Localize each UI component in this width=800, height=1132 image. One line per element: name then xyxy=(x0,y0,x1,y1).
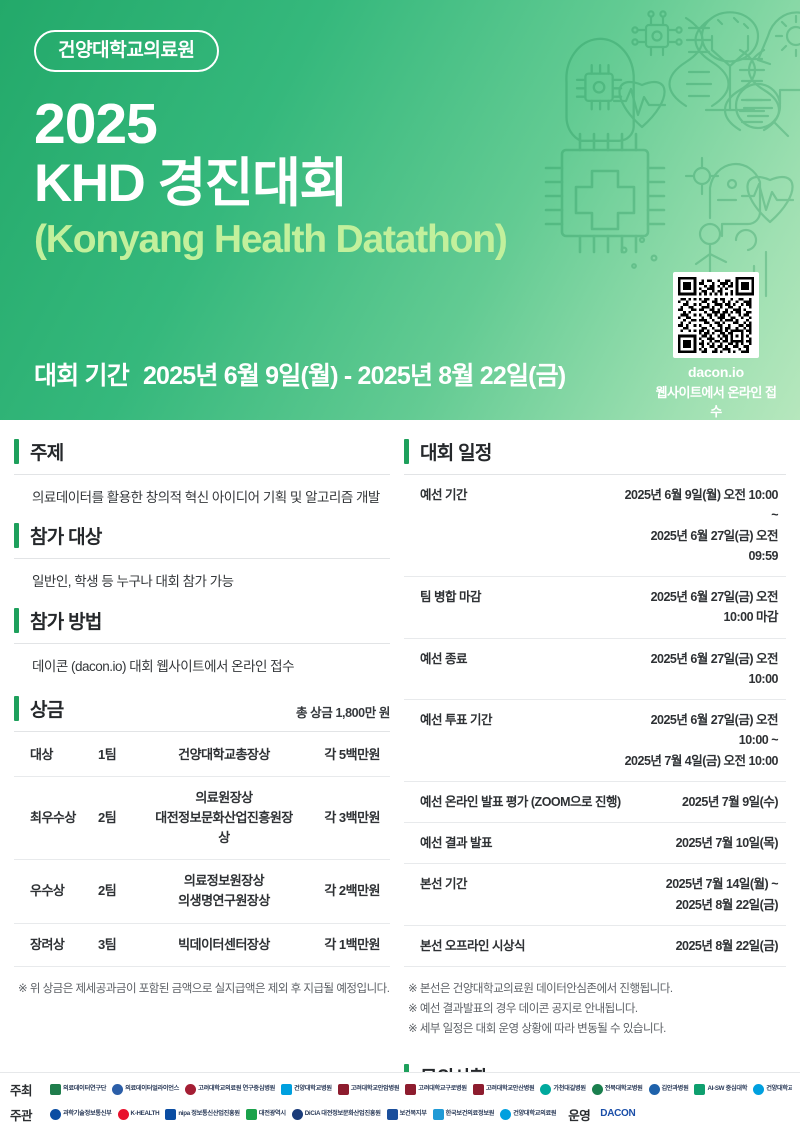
sponsor-logo: DiCiA 대전정보문화산업진흥원 xyxy=(292,1109,381,1120)
sponsor-logo-mark-icon xyxy=(387,1109,398,1120)
table-row: 예선 결과 발표2025년 7월 10일(목) xyxy=(404,823,786,864)
sponsor-logo-mark-icon xyxy=(50,1109,61,1120)
schedule-label: 본선 오프라인 시상식 xyxy=(404,925,621,966)
section-method: 참가 방법 데이콘 (dacon.io) 대회 웹사이트에서 온라인 접수 xyxy=(14,607,390,677)
table-row: 예선 온라인 발표 평가 (ZOOM으로 진행)2025년 7월 9일(수) xyxy=(404,781,786,822)
section-topic-body: 의료데이터를 활용한 창의적 혁신 아이디어 기획 및 알고리즘 개발 xyxy=(14,475,390,508)
sponsor-logo-name: 고려대학교의료원 연구중심병원 xyxy=(198,1086,275,1093)
prize-teams: 2팀 xyxy=(98,860,150,923)
sponsor-logo-name: AI-SW 중심대학 xyxy=(707,1086,747,1093)
sponsor-logo-mark-icon xyxy=(281,1084,292,1095)
sponsor-logo-mark-icon xyxy=(473,1084,484,1095)
sponsor-logo-mark-icon xyxy=(649,1084,660,1095)
qr-url-label: dacon.io xyxy=(654,364,778,380)
schedule-value: 2025년 8월 22일(금) xyxy=(621,925,786,966)
sponsor-logo: 의료데이터얼라이언스 xyxy=(112,1084,179,1095)
schedule-label: 예선 결과 발표 xyxy=(404,823,621,864)
sponsor-logo-name: 가천대길병원 xyxy=(553,1086,585,1093)
accent-bar-icon xyxy=(404,439,409,464)
sponsor-logo: 고려대학교의료원 연구중심병원 xyxy=(185,1084,275,1095)
operator-label: 운영 xyxy=(568,1105,590,1124)
prize-rank: 대상 xyxy=(14,734,98,777)
section-audience: 참가 대상 일반인, 학생 등 누구나 대회 참가 가능 xyxy=(14,522,390,592)
sponsor-logo-name: 과학기술정보통신부 xyxy=(63,1111,112,1118)
prize-note: ※ 위 상금은 제세공과금이 포함된 금액으로 실지급액은 제외 후 지급될 예… xyxy=(14,979,390,999)
sponsor-logo: 고려대학교안암병원 xyxy=(338,1084,400,1095)
sponsor-logo: K-HEALTH xyxy=(118,1109,160,1120)
section-topic: 주제 의료데이터를 활용한 창의적 혁신 아이디어 기획 및 알고리즘 개발 xyxy=(14,438,390,508)
sponsor-logo-mark-icon xyxy=(50,1084,61,1095)
prize-award: 의료정보원장상의생명연구원장상 xyxy=(150,860,298,923)
prize-teams: 3팀 xyxy=(98,923,150,966)
sponsor-logo-name: 건양대학교의료원 xyxy=(513,1111,556,1118)
sponsor-logo-mark-icon xyxy=(592,1084,603,1095)
schedule-label: 예선 온라인 발표 평가 (ZOOM으로 진행) xyxy=(404,781,621,822)
sponsor-logo-mark-icon xyxy=(112,1084,123,1095)
section-method-header: 참가 방법 xyxy=(14,607,390,644)
sponsor-logo-name: 건양대학교병원 xyxy=(294,1086,332,1093)
operator-logo-text: DACON xyxy=(600,1109,635,1120)
host-row: 주최 의료데이터연구단의료데이터얼라이언스고려대학교의료원 연구중심병원건양대학… xyxy=(10,1077,792,1102)
prize-rank: 장려상 xyxy=(14,923,98,966)
schedule-label: 본선 기간 xyxy=(404,864,621,926)
section-audience-header: 참가 대상 xyxy=(14,522,390,559)
sponsor-logo-name: nipa 정보통신산업진흥원 xyxy=(178,1111,239,1118)
prize-teams: 2팀 xyxy=(98,776,150,859)
prize-table-body: 대상1팀건양대학교총장상각 5백만원최우수상2팀의료원장상대전정보문화산업진흥원… xyxy=(14,734,390,966)
accent-bar-icon xyxy=(14,523,19,548)
schedule-value: 2025년 7월 14일(월) ~2025년 8월 22일(금) xyxy=(621,864,786,926)
poster-header: 건양대학교의료원 2025 KHD 경진대회 (Konyang Health D… xyxy=(0,0,800,420)
table-row: 본선 오프라인 시상식2025년 8월 22일(금) xyxy=(404,925,786,966)
sponsor-logo-mark-icon xyxy=(540,1084,551,1095)
schedule-label: 예선 종료 xyxy=(404,638,621,700)
sponsor-logo-name: 고려대학교안산병원 xyxy=(486,1086,535,1093)
sponsor-logo: 고려대학교구로병원 xyxy=(405,1084,467,1095)
sponsor-logo-name: 보건복지부 xyxy=(400,1111,427,1118)
sponsor-logo-mark-icon xyxy=(500,1109,511,1120)
prize-rank: 우수상 xyxy=(14,860,98,923)
table-row: 우수상2팀의료정보원장상의생명연구원장상각 2백만원 xyxy=(14,860,390,923)
sponsor-logo-mark-icon xyxy=(694,1084,705,1095)
sponsor-logo-name: 한국보건의료정보원 xyxy=(446,1111,495,1118)
sponsor-logo: 한국보건의료정보원 xyxy=(433,1109,495,1120)
sponsor-logo: 건양대학교의료원 xyxy=(500,1109,556,1120)
schedule-value-line: 2025년 6월 27일(금) 오전 09:59 xyxy=(621,526,778,567)
section-audience-body: 일반인, 학생 등 누구나 대회 참가 가능 xyxy=(14,559,390,592)
prize-total: 총 상금 1,800만 원 xyxy=(296,702,390,722)
organizer-logo-list: 과학기술정보통신부K-HEALTHnipa 정보통신산업진흥원대전광역시DiCi… xyxy=(50,1109,556,1120)
operator-logo: DACON xyxy=(600,1109,635,1120)
sponsor-logo: 가천대길병원 xyxy=(540,1084,585,1095)
poster-body: 주제 의료데이터를 활용한 창의적 혁신 아이디어 기획 및 알고리즘 개발 참… xyxy=(0,420,800,1075)
table-row: 대상1팀건양대학교총장상각 5백만원 xyxy=(14,734,390,777)
schedule-note-line: ※ 예선 결과발표의 경우 데이콘 공지로 안내됩니다. xyxy=(408,999,786,1019)
schedule-value-line: 2025년 6월 27일(금) 오전 10:00 마감 xyxy=(621,587,778,628)
host-label: 주최 xyxy=(10,1080,44,1099)
schedule-label: 예선 투표 기간 xyxy=(404,700,621,782)
schedule-label: 예선 기간 xyxy=(404,475,621,577)
right-column: 대회 일정 예선 기간2025년 6월 9일(월) 오전 10:00 ~2025… xyxy=(404,438,786,1075)
sponsor-logo-mark-icon xyxy=(118,1109,129,1120)
accent-bar-icon xyxy=(14,696,19,721)
poster-root: 건양대학교의료원 2025 KHD 경진대회 (Konyang Health D… xyxy=(0,0,800,1132)
poster-title-year: 2025 xyxy=(34,94,766,154)
schedule-value: 2025년 6월 27일(금) 오전 10:00 ~2025년 7월 4일(금)… xyxy=(621,700,786,782)
section-topic-title: 주제 xyxy=(30,438,64,465)
schedule-value-line: 2025년 7월 10일(목) xyxy=(621,833,778,853)
left-column: 주제 의료데이터를 활용한 창의적 혁신 아이디어 기획 및 알고리즘 개발 참… xyxy=(14,438,390,1075)
sponsor-logo: 의료데이터연구단 xyxy=(50,1084,106,1095)
prize-award: 의료원장상대전정보문화산업진흥원장상 xyxy=(150,776,298,859)
table-row: 예선 투표 기간2025년 6월 27일(금) 오전 10:00 ~2025년 … xyxy=(404,700,786,782)
schedule-table: 예선 기간2025년 6월 9일(월) 오전 10:00 ~2025년 6월 2… xyxy=(404,475,786,967)
accent-bar-icon xyxy=(14,608,19,633)
schedule-value: 2025년 6월 27일(금) 오전 10:00 마감 xyxy=(621,577,786,639)
table-row: 팀 병합 마감2025년 6월 27일(금) 오전 10:00 마감 xyxy=(404,577,786,639)
sponsor-logo-mark-icon xyxy=(246,1109,257,1120)
sponsor-logo: 건양대학교병원 xyxy=(281,1084,332,1095)
poster-title-main: KHD 경진대회 xyxy=(34,154,766,213)
schedule-value: 2025년 6월 9일(월) 오전 10:00 ~2025년 6월 27일(금)… xyxy=(621,475,786,577)
period-label: 대회 기간 xyxy=(34,362,129,390)
sponsor-logo: nipa 정보통신산업진흥원 xyxy=(165,1109,239,1120)
sponsor-logo-name: 전북대학교병원 xyxy=(605,1086,643,1093)
qr-block[interactable]: dacon.io 웹사이트에서 온라인 접수 xyxy=(654,272,778,420)
sponsor-logo: 대전광역시 xyxy=(246,1109,286,1120)
qr-caption: 웹사이트에서 온라인 접수 xyxy=(654,382,778,420)
sponsor-logo-mark-icon xyxy=(165,1109,176,1120)
schedule-value-line: 2025년 6월 27일(금) 오전 10:00 ~ xyxy=(621,710,778,751)
prize-award: 빅데이터센터장상 xyxy=(150,923,298,966)
host-logo-list: 의료데이터연구단의료데이터얼라이언스고려대학교의료원 연구중심병원건양대학교병원… xyxy=(50,1084,792,1095)
sponsor-logo-name: 고려대학교안암병원 xyxy=(351,1086,400,1093)
institution-badge: 건양대학교의료원 xyxy=(34,30,219,72)
sponsor-logo-name: DiCiA 대전정보문화산업진흥원 xyxy=(305,1111,381,1118)
schedule-note-line: ※ 본선은 건양대학교의료원 데이터안심존에서 진행됩니다. xyxy=(408,979,786,999)
prize-teams: 1팀 xyxy=(98,734,150,777)
sponsor-logo-mark-icon xyxy=(338,1084,349,1095)
table-row: 예선 기간2025년 6월 9일(월) 오전 10:00 ~2025년 6월 2… xyxy=(404,475,786,577)
schedule-value-line: 2025년 8월 22일(금) xyxy=(621,895,778,915)
qr-code-icon[interactable] xyxy=(673,272,759,358)
table-row: 최우수상2팀의료원장상대전정보문화산업진흥원장상각 3백만원 xyxy=(14,776,390,859)
accent-bar-icon xyxy=(14,439,19,464)
sponsor-logo-name: 건양대학교 xyxy=(766,1086,792,1093)
sponsor-logo: 건양대학교 xyxy=(753,1084,792,1095)
section-schedule-header: 대회 일정 xyxy=(404,438,786,475)
organizer-label: 주관 xyxy=(10,1105,44,1124)
schedule-value-line: 2025년 6월 9일(월) 오전 10:00 ~ xyxy=(621,485,778,526)
section-audience-title: 참가 대상 xyxy=(30,522,102,549)
schedule-note-line: ※ 세부 일정은 대회 운영 상황에 따라 변동될 수 있습니다. xyxy=(408,1019,786,1039)
table-row: 본선 기간2025년 7월 14일(월) ~2025년 8월 22일(금) xyxy=(404,864,786,926)
sponsor-logo-name: 의료데이터연구단 xyxy=(63,1086,106,1093)
prize-money: 각 2백만원 xyxy=(298,860,390,923)
sponsor-logo-name: 의료데이터얼라이언스 xyxy=(125,1086,179,1093)
prize-money: 각 1백만원 xyxy=(298,923,390,966)
schedule-value-line: 2025년 8월 22일(금) xyxy=(621,936,778,956)
prize-award: 건양대학교총장상 xyxy=(150,734,298,777)
table-row: 예선 종료2025년 6월 27일(금) 오전 10:00 xyxy=(404,638,786,700)
section-method-title: 참가 방법 xyxy=(30,607,102,634)
section-prize: 상금 총 상금 1,800만 원 대상1팀건양대학교총장상각 5백만원최우수상2… xyxy=(14,695,390,999)
schedule-notes: ※ 본선은 건양대학교의료원 데이터안심존에서 진행됩니다.※ 예선 결과발표의… xyxy=(404,979,786,1039)
prize-rank: 최우수상 xyxy=(14,776,98,859)
organizer-row: 주관 과학기술정보통신부K-HEALTHnipa 정보통신산업진흥원대전광역시D… xyxy=(10,1102,792,1127)
sponsor-logo-mark-icon xyxy=(753,1084,764,1095)
prize-table: 대상1팀건양대학교총장상각 5백만원최우수상2팀의료원장상대전정보문화산업진흥원… xyxy=(14,734,390,967)
sponsor-logo-name: 김안과병원 xyxy=(662,1086,689,1093)
schedule-value: 2025년 7월 9일(수) xyxy=(621,781,786,822)
schedule-value: 2025년 7월 10일(목) xyxy=(621,823,786,864)
sponsor-logo-mark-icon xyxy=(185,1084,196,1095)
section-schedule-title: 대회 일정 xyxy=(420,438,492,465)
prize-money: 각 3백만원 xyxy=(298,776,390,859)
sponsor-logo: 보건복지부 xyxy=(387,1109,427,1120)
table-row: 장려상3팀빅데이터센터장상각 1백만원 xyxy=(14,923,390,966)
schedule-value: 2025년 6월 27일(금) 오전 10:00 xyxy=(621,638,786,700)
sponsor-logo: 고려대학교안산병원 xyxy=(473,1084,535,1095)
period-value: 2025년 6월 9일(월) - 2025년 8월 22일(금) xyxy=(143,362,565,390)
sponsor-logo-mark-icon xyxy=(292,1109,303,1120)
sponsor-logo: 전북대학교병원 xyxy=(592,1084,643,1095)
sponsor-footer: 주최 의료데이터연구단의료데이터얼라이언스고려대학교의료원 연구중심병원건양대학… xyxy=(0,1072,800,1132)
sponsor-logo-mark-icon xyxy=(433,1109,444,1120)
schedule-value-line: 2025년 7월 14일(월) ~ xyxy=(621,874,778,894)
schedule-value-line: 2025년 6월 27일(금) 오전 10:00 xyxy=(621,649,778,690)
section-method-body: 데이콘 (dacon.io) 대회 웹사이트에서 온라인 접수 xyxy=(14,644,390,677)
schedule-value-line: 2025년 7월 9일(수) xyxy=(621,792,778,812)
sponsor-logo-name: 고려대학교구로병원 xyxy=(418,1086,467,1093)
sponsor-logo-mark-icon xyxy=(405,1084,416,1095)
sponsor-logo-name: 대전광역시 xyxy=(259,1111,286,1118)
poster-title-english: (Konyang Health Datathon) xyxy=(34,216,766,265)
section-prize-header: 상금 총 상금 1,800만 원 xyxy=(14,695,390,732)
sponsor-logo: 과학기술정보통신부 xyxy=(50,1109,112,1120)
section-prize-title: 상금 xyxy=(30,695,64,722)
prize-money: 각 5백만원 xyxy=(298,734,390,777)
section-schedule: 대회 일정 예선 기간2025년 6월 9일(월) 오전 10:00 ~2025… xyxy=(404,438,786,1039)
schedule-label: 팀 병합 마감 xyxy=(404,577,621,639)
sponsor-logo-name: K-HEALTH xyxy=(131,1111,160,1118)
sponsor-logo: 김안과병원 xyxy=(649,1084,689,1095)
section-topic-header: 주제 xyxy=(14,438,390,475)
schedule-value-line: 2025년 7월 4일(금) 오전 10:00 xyxy=(621,751,778,771)
competition-period: 대회 기간2025년 6월 9일(월) - 2025년 8월 22일(금) xyxy=(34,356,565,392)
schedule-table-body: 예선 기간2025년 6월 9일(월) 오전 10:00 ~2025년 6월 2… xyxy=(404,475,786,967)
sponsor-logo: AI-SW 중심대학 xyxy=(694,1084,747,1095)
